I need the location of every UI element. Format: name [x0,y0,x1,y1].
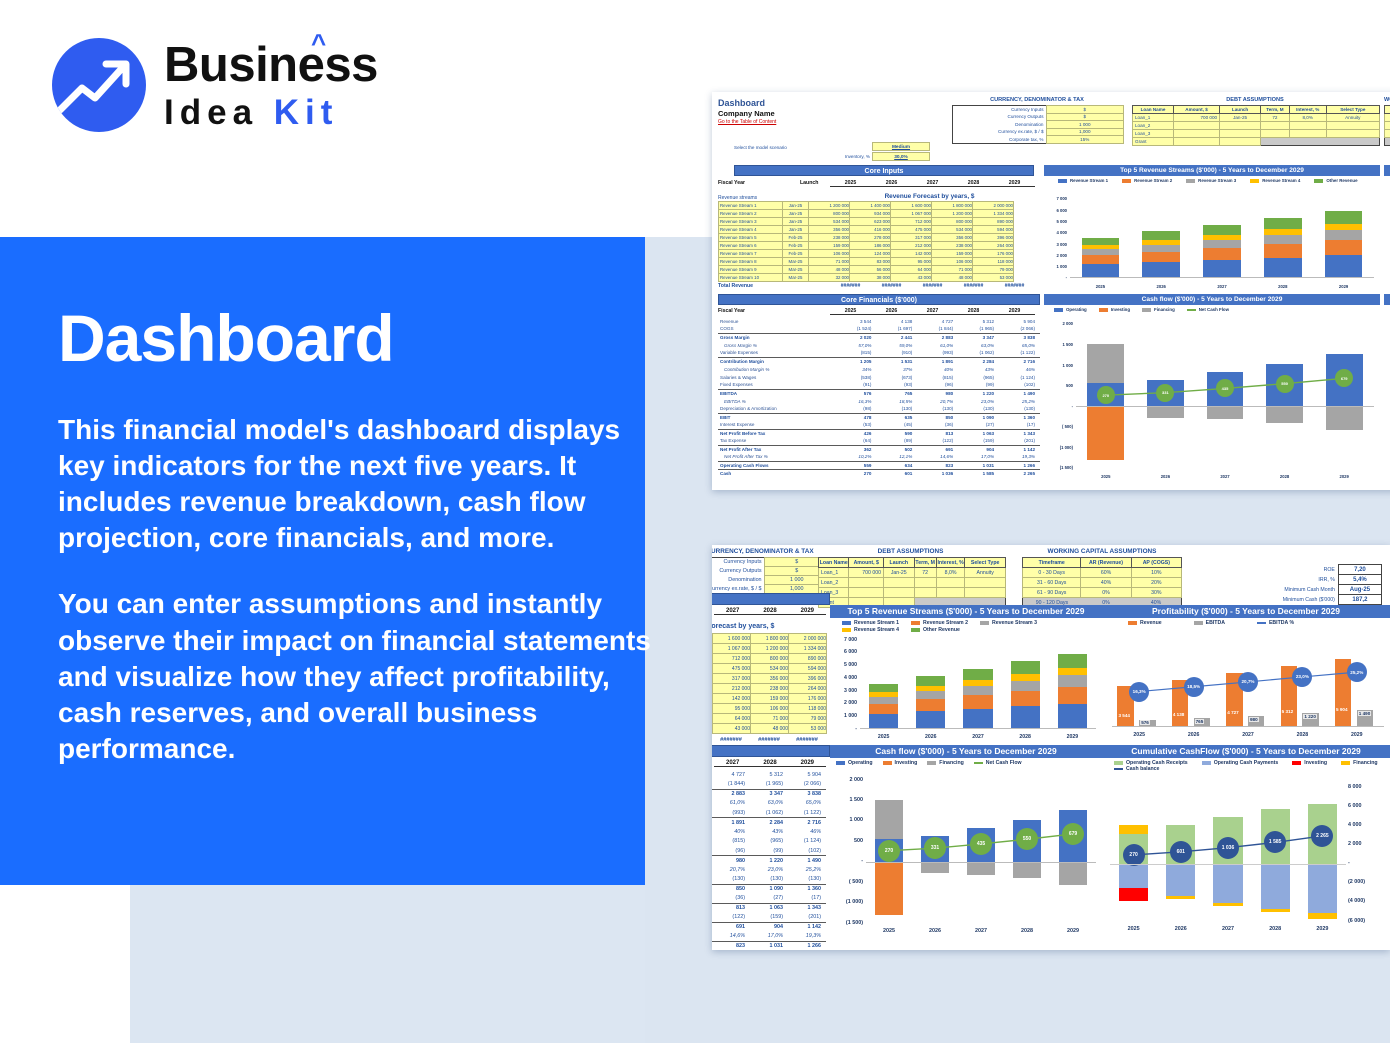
y-axis-tick: 2 000 [831,700,857,706]
financial-value: (102) [788,846,826,856]
financial-value: (1 965) [958,325,999,333]
debt-cell[interactable] [849,588,884,598]
currency-label: Currency Outputs [953,113,1047,121]
table-row: Operating Cash Flows5596348231 0311 266 [718,461,1040,469]
legend-label: Investing [895,760,918,766]
debt-cell[interactable]: Loan_2 [1133,122,1174,130]
table-row: Loan_3 [1133,130,1380,138]
revenue-value[interactable]: 53 000 [973,274,1014,282]
financial-value: (122) [917,437,958,445]
bar-segment [1325,255,1363,278]
debt-cell[interactable]: Loan_2 [819,578,849,588]
revenue-value[interactable]: 396 000 [973,234,1014,242]
debt-cell[interactable] [884,578,914,588]
revenue-stream-launch[interactable]: Jan-25 [783,202,809,210]
debt-cell[interactable] [914,588,936,598]
chart-cumulative-cashflow[interactable]: Cumulative CashFlow ($'000) - 5 Years to… [1102,745,1390,945]
wc-cell[interactable]: 90 - 120 Days [1385,138,1390,146]
revenue-forecast-table[interactable]: 1 600 0001 800 0002 000 0001 067 0001 20… [712,633,827,734]
debt-cell[interactable] [1261,138,1290,146]
revenue-value[interactable]: 48 000 [932,274,973,282]
revenue-stream-name[interactable]: Revenue Stream 1 [719,202,783,210]
bar-segment [869,697,898,704]
y-axis-tick: 1 000 [1045,264,1067,269]
revenue-value[interactable]: 800 000 [932,218,973,226]
revenue-value[interactable]: 106 000 [809,250,850,258]
revenue-value[interactable]: 53 000 [789,724,827,734]
chart-profitability[interactable]: Profitability ($'000) - 5 Years to Decem… [1102,605,1390,745]
financial-value: 43% [750,827,788,837]
revenue-value[interactable]: 1 200 000 [751,644,789,654]
wc-header-cell: Timeframe [1385,106,1390,114]
revenue-value[interactable]: 212 000 [713,684,751,694]
debt-header-cell: Launch [1220,106,1261,114]
revenue-value[interactable]: 142 000 [713,694,751,704]
bubble-ebitda-pct: 18,5% [1184,677,1204,697]
bar-segment [963,695,992,709]
revenue-value[interactable]: 1 067 000 [891,210,932,218]
wc-cell[interactable]: 40% [1081,578,1131,588]
debt-cell[interactable]: Annuity [1326,114,1379,122]
revenue-value[interactable]: 1 800 000 [932,202,973,210]
bar-segment [916,676,945,686]
debt-cell[interactable]: Loan_3 [1133,130,1174,138]
financial-value: (910) [876,349,917,357]
wc-cell[interactable]: 31 - 60 Days [1385,122,1390,130]
kpi-row: IRR, %5,4% [1202,575,1382,585]
revenue-value[interactable]: 356 000 [809,226,850,234]
revenue-value[interactable]: 712 000 [713,654,751,664]
bubble-datapoint: 331 [1156,384,1174,402]
bubble-datapoint: 435 [970,833,992,855]
financial-value: 559 [836,461,877,469]
revenue-value[interactable]: 106 000 [932,258,973,266]
revenue-stream-name[interactable]: Revenue Stream 4 [719,226,783,234]
table-row: 6919041 142 [712,922,826,932]
debt-cell[interactable] [1173,122,1219,130]
debt-cell[interactable]: Grant [1133,138,1174,146]
kpi-label: ROE [1202,565,1338,575]
revenue-value[interactable]: 890 000 [789,654,827,664]
table-row: 8131 0631 343 [712,903,826,913]
table-row: Net Profit After Tax %10,2%12,1%14,6%17,… [718,453,1040,461]
chart-cumulative-cashflow-top[interactable]: Cumulative CashFlow ($'000) - 5 Years to… [1384,294,1390,486]
wc-cell[interactable]: 20% [1131,578,1181,588]
financial-value: 3 838 [788,789,826,799]
revenue-value[interactable]: 623 000 [850,218,891,226]
financial-value: (1 062) [750,808,788,818]
wc-cell[interactable]: 10% [1131,568,1181,578]
currency-table[interactable]: Currency Inputs$Currency Outputs$Denomin… [952,105,1124,144]
table-row: Revenue Stream 2Jan-25800 000934 0001 06… [719,210,1014,218]
page-title: Dashboard [58,300,394,376]
legend-item: Revenue Stream 3 [980,620,1037,626]
chart-plot-area: 2 0001 5001 000500-( 500)(1 000)(1 500)2… [1044,318,1380,484]
revenue-value[interactable]: 1 334 000 [973,210,1014,218]
wc-cell[interactable]: 60% [1081,568,1131,578]
revenue-value[interactable]: 56 000 [850,266,891,274]
debt-cell[interactable]: 700 000 [1173,114,1219,122]
debt-cell[interactable] [965,578,1006,588]
debt-cell[interactable] [1220,138,1261,146]
financial-value: 46% [999,365,1040,373]
financial-value: (1 122) [999,349,1040,357]
scenario-value[interactable]: Medium [872,142,930,151]
revenue-value[interactable]: 1 200 000 [932,210,973,218]
financial-value: (36) [712,894,750,904]
bubble-datapoint: 270 [878,840,900,862]
revenue-value[interactable]: 159 000 [751,694,789,704]
wc-table[interactable]: TimeframeAR (Revenue)AP (COGS) 0 - 30 Da… [1022,557,1182,608]
revenue-value[interactable]: 317 000 [713,674,751,684]
toc-link[interactable]: Go to the Table of Content [718,119,776,125]
year-header-row: 202720282029 [714,608,826,615]
financial-row-label: Tax Expense [718,437,836,445]
revenue-stream-launch[interactable]: Jan-25 [783,218,809,226]
revenue-value[interactable]: 79 000 [973,266,1014,274]
financial-row-label: Revenue [718,317,836,325]
revenue-value[interactable]: 118 000 [789,704,827,714]
kpi-row: ROE7,20 [1202,565,1382,575]
revenue-stream-name[interactable]: Revenue Stream 3 [719,218,783,226]
financial-value: 823 [917,461,958,469]
financial-value: (1 124) [788,837,826,847]
revenue-value[interactable]: 159 000 [809,242,850,250]
wc-cell[interactable]: 0 - 30 Days [1385,114,1390,122]
revenue-value[interactable]: 1 334 000 [789,644,827,654]
table-row: 317 000356 000396 000 [713,674,827,684]
debt-cell[interactable] [1173,130,1219,138]
revenue-value[interactable]: 71 000 [932,266,973,274]
chart-revenue-streams-top[interactable]: Top 5 Revenue Streams ($'000) - 5 Years … [1044,165,1380,290]
wc-cell[interactable]: 61 - 90 Days [1385,130,1390,138]
inventory-value[interactable]: 30,0% [872,152,930,161]
revenue-value[interactable]: 264 000 [789,684,827,694]
currency-row: Denomination1 000 [712,576,830,585]
wc-table[interactable]: TimeframeAR (Revenue)AP (COGS) 0 - 30 Da… [1384,105,1390,146]
wc-cell[interactable]: 0% [1081,588,1131,598]
revenue-value[interactable]: 71 000 [751,714,789,724]
revenue-stream-launch[interactable]: Mar-25 [783,266,809,274]
revenue-value[interactable]: 159 000 [932,250,973,258]
revenue-value[interactable]: 212 000 [891,242,932,250]
revenue-value[interactable]: 890 000 [973,218,1014,226]
debt-cell[interactable] [1289,130,1326,138]
revenue-value[interactable]: 1 600 000 [891,202,932,210]
revenue-value[interactable]: 534 000 [809,218,850,226]
legend-label: Investing [1111,307,1130,312]
chart-plot-area: 7 0006 0005 0004 0003 0002 0001 000-2025… [830,636,1102,745]
revenue-value[interactable]: 43 000 [891,274,932,282]
revenue-value[interactable]: 238 000 [751,684,789,694]
revenue-stream-launch[interactable]: Feb-25 [783,242,809,250]
bubble-ebitda-pct: 16,3% [1129,682,1149,702]
wc-header-cell: AP (COGS) [1131,558,1181,568]
revenue-value[interactable]: 1 400 000 [850,202,891,210]
revenue-value[interactable]: 934 000 [850,210,891,218]
revenue-value[interactable]: 186 000 [850,242,891,250]
financial-value: 850 [712,884,750,894]
revenue-value[interactable]: 142 000 [891,250,932,258]
dashboard-screenshot-top[interactable]: Dashboard Company Name Go to the Table o… [712,92,1390,490]
revenue-value[interactable]: 534 000 [751,664,789,674]
debt-cell[interactable] [1326,138,1379,146]
revenue-value[interactable]: 1 200 000 [809,202,850,210]
bubble-datapoint: 601 [1170,841,1192,863]
chart-title: Cash flow ($'000) - 5 Years to December … [1044,294,1380,305]
wc-cell[interactable]: 31 - 60 Days [1023,578,1081,588]
revenue-stream-name[interactable]: Revenue Stream 5 [719,234,783,242]
debt-cell[interactable]: 8,0% [1289,114,1326,122]
financial-value: 1 343 [999,429,1040,437]
revenue-value[interactable]: 83 000 [850,258,891,266]
legend-swatch [842,628,851,632]
financial-value: 65,0% [999,341,1040,349]
table-row: (96)(99)(102) [712,846,826,856]
kpi-value: Aug-25 [1338,585,1381,595]
financial-value: (1 524) [836,325,877,333]
currency-value[interactable]: 1 000 [1046,121,1124,129]
chart-cash-flow[interactable]: Cash flow ($'000) - 5 Years to December … [830,745,1102,945]
revenue-value[interactable]: 238 000 [932,242,973,250]
revenue-value[interactable]: 475 000 [713,664,751,674]
debt-cell[interactable] [1261,122,1290,130]
debt-cell[interactable] [1220,130,1261,138]
debt-cell[interactable] [1326,130,1379,138]
table-row: Loan_3 [819,588,1006,598]
currency-row: Currency Outputs$ [953,113,1124,121]
revenue-value[interactable]: 534 000 [932,226,973,234]
debt-cell[interactable]: 8,0% [936,568,964,578]
chart-profitability-top[interactable]: Profitability ($'000) - 5 Years to Decem… [1384,165,1390,290]
legend-item: Operating [836,760,873,766]
revenue-value[interactable]: 800 000 [751,654,789,664]
financial-value: 12,1% [876,453,917,461]
financial-value: (130) [999,405,1040,413]
debt-table[interactable]: Loan NameAmount, $LaunchTerm, MInterest,… [818,557,1006,608]
financial-row-label: Operating Cash Flows [718,461,836,469]
revenue-value[interactable]: 238 000 [809,234,850,242]
revenue-stream-name[interactable]: Revenue Stream 10 [719,274,783,282]
revenue-value[interactable]: 278 000 [850,234,891,242]
debt-cell[interactable] [914,578,936,588]
revenue-value[interactable]: 264 000 [973,242,1014,250]
bar-segment [1264,258,1302,278]
legend-swatch [974,762,983,764]
debt-cell[interactable]: 700 000 [849,568,884,578]
currency-value[interactable]: 15% [1046,136,1124,144]
legend-swatch [1292,761,1301,765]
revenue-stream-launch[interactable]: Feb-25 [783,250,809,258]
debt-cell[interactable] [936,588,964,598]
revenue-value[interactable]: 1 800 000 [751,634,789,644]
bar-segment [1011,674,1040,681]
legend-item: Other Revenue [1314,178,1357,183]
revenue-forecast-table[interactable]: Revenue Stream 1Jan-251 200 0001 400 000… [718,201,1014,282]
bar-segment [916,711,945,729]
debt-cell[interactable] [1289,122,1326,130]
table-row: Revenue Stream 5Feb-25238 000278 000317 … [719,234,1014,242]
financial-value: (102) [999,381,1040,389]
y-axis-tick: 7 000 [831,637,857,643]
table-row: 712 000800 000890 000 [713,654,827,664]
financial-value: 590 [876,429,917,437]
wc-cell[interactable]: 30% [1131,588,1181,598]
chart-legend: Operating Cash ReceiptsOperating Cash Pa… [1102,758,1390,774]
revenue-value[interactable]: 64 000 [713,714,751,724]
revenue-stream-launch[interactable]: Jan-25 [783,226,809,234]
x-axis-tick: 2027 [954,734,1001,740]
line-ebitda-pct [1384,195,1390,290]
financial-value: 813 [712,903,750,913]
financial-value: 17,0% [750,932,788,942]
revenue-value[interactable]: 43 000 [713,724,751,734]
revenue-value[interactable]: 356 000 [751,674,789,684]
revenue-value[interactable]: 176 000 [973,250,1014,258]
revenue-stream-launch[interactable]: Mar-25 [783,274,809,282]
revenue-stream-launch[interactable]: Mar-25 [783,258,809,266]
revenue-value[interactable]: 176 000 [789,694,827,704]
table-row: (36)(27)(17) [712,894,826,904]
revenue-value[interactable]: 594 000 [973,226,1014,234]
revenue-value[interactable]: 48 000 [751,724,789,734]
debt-cell[interactable] [849,578,884,588]
revenue-value[interactable]: 594 000 [789,664,827,674]
bar-segment [1264,244,1302,258]
debt-cell[interactable] [1326,122,1379,130]
revenue-value[interactable]: 712 000 [891,218,932,226]
financial-value: 2 441 [876,333,917,341]
revenue-value[interactable]: 1 067 000 [713,644,751,654]
table-row: EBITDA %16,3%18,5%20,7%23,0%25,2% [718,397,1040,405]
financial-value: 1 266 [999,461,1040,469]
revenue-value[interactable]: 79 000 [789,714,827,724]
financial-value: (130) [712,875,750,885]
revenue-value[interactable]: 32 000 [809,274,850,282]
revenue-stream-name[interactable]: Revenue Stream 7 [719,250,783,258]
currency-value[interactable]: $ [1046,113,1124,121]
year-header-row: 20252026202720282029 [830,180,1035,187]
revenue-value[interactable]: 2 000 000 [789,634,827,644]
revenue-value[interactable]: 64 000 [891,266,932,274]
revenue-value[interactable]: 71 000 [809,258,850,266]
core-financials-table[interactable]: 4 7275 3125 904(1 844)(1 965)(2 066)2 88… [712,770,826,950]
financial-value: 1 343 [788,903,826,913]
financial-value: 43% [958,365,999,373]
debt-cell[interactable]: Loan_1 [819,568,849,578]
debt-cell[interactable]: Loan_1 [1133,114,1174,122]
debt-cell[interactable]: 72 [914,568,936,578]
bar-segment [1203,248,1241,260]
wc-cell[interactable]: 61 - 90 Days [1023,588,1081,598]
financial-value: (1 965) [750,780,788,790]
revenue-value[interactable]: 95 000 [891,258,932,266]
currency-row: Corporate tax, %15% [953,136,1124,144]
legend-label: Revenue Stream 4 [854,627,899,633]
revenue-value[interactable]: 416 000 [850,226,891,234]
legend-label: Revenue [1140,620,1162,626]
chart-revenue-streams[interactable]: Top 5 Revenue Streams ($'000) - 5 Years … [830,605,1102,745]
revenue-value[interactable]: 396 000 [789,674,827,684]
revenue-value[interactable]: 95 000 [713,704,751,714]
financial-value: (201) [999,437,1040,445]
table-row: 90 - 120 Days0%40% [1385,138,1390,146]
financial-value: 5 904 [788,770,826,780]
debt-cell[interactable] [1289,138,1326,146]
revenue-stream-name[interactable]: Revenue Stream 6 [719,242,783,250]
debt-cell[interactable]: Jan-25 [1220,114,1261,122]
debt-table[interactable]: Loan NameAmount, $LaunchTerm, MInterest,… [1132,105,1380,146]
core-financials-table[interactable]: Revenue3 5444 1384 7275 3125 904COGS(1 5… [718,317,1040,477]
table-row: Revenue Stream 7Feb-25106 000124 000142 … [719,250,1014,258]
brand-name-text: Business [164,38,378,92]
revenue-value[interactable]: 1 600 000 [713,634,751,644]
revenue-value[interactable]: 118 000 [973,258,1014,266]
revenue-stream-launch[interactable]: Jan-25 [783,210,809,218]
revenue-stream-name[interactable]: Revenue Stream 8 [719,258,783,266]
debt-cell[interactable]: 72 [1261,114,1290,122]
revenue-value[interactable]: 317 000 [891,234,932,242]
currency-row: Denomination1 000 [953,121,1124,129]
revenue-value[interactable]: 475 000 [891,226,932,234]
financial-value: (965) [750,837,788,847]
debt-cell[interactable] [1261,130,1290,138]
financial-value: 46% [788,827,826,837]
bar-segment [1325,224,1363,231]
table-row: Contribution Margin1 2051 5311 8912 2842… [718,357,1040,365]
revenue-stream-launch[interactable]: Feb-25 [783,234,809,242]
financial-value: 5 312 [958,317,999,325]
debt-cell[interactable] [1220,122,1261,130]
year-header: 2027 [912,308,953,315]
table-row: Net Profit Before Tax4265908131 0631 343 [718,429,1040,437]
revenue-value[interactable]: 38 000 [850,274,891,282]
debt-block-title: DEBT ASSUMPTIONS [1132,97,1378,103]
chart-legend: OperatingInvestingFinancingNet Cash Flow [1044,305,1380,314]
circumflex-accent-icon: ^ [311,30,326,56]
financial-value: 1 531 [876,357,917,365]
chart-cash-flow-top[interactable]: Cash flow ($'000) - 5 Years to December … [1044,294,1380,486]
revenue-value[interactable]: 106 000 [751,704,789,714]
debt-cell[interactable]: Annuity [965,568,1006,578]
revenue-stream-name[interactable]: Revenue Stream 9 [719,266,783,274]
legend-swatch [911,628,920,632]
currency-value[interactable]: $ [1046,106,1124,114]
debt-cell[interactable]: Jan-25 [884,568,914,578]
revenue-value[interactable]: 48 000 [809,266,850,274]
table-row: 2 8833 3473 838 [712,789,826,799]
debt-header-cell: Loan Name [819,558,849,568]
revenue-value[interactable]: 356 000 [932,234,973,242]
table-row: Revenue Stream 3Jan-25534 000623 000712 … [719,218,1014,226]
wc-cell[interactable]: 0 - 30 Days [1023,568,1081,578]
legend-swatch [1202,761,1211,765]
financial-value: 691 [712,922,750,932]
revenue-value[interactable]: 800 000 [809,210,850,218]
dashboard-screenshot-bottom[interactable]: CURRENCY, DENOMINATOR & TAX Currency Inp… [712,545,1390,950]
legend-item: EBITDA [1194,620,1225,626]
debt-cell[interactable] [1173,138,1219,146]
debt-cell[interactable] [936,578,964,588]
debt-cell[interactable] [884,588,914,598]
kpi-value: 7,20 [1338,565,1381,575]
currency-value[interactable]: 1,000 [1046,128,1124,136]
revenue-stream-name[interactable]: Revenue Stream 2 [719,210,783,218]
revenue-value[interactable]: 2 000 000 [973,202,1014,210]
debt-cell[interactable] [965,588,1006,598]
revenue-value[interactable]: 124 000 [850,250,891,258]
legend-item: Revenue Stream 2 [911,620,968,626]
